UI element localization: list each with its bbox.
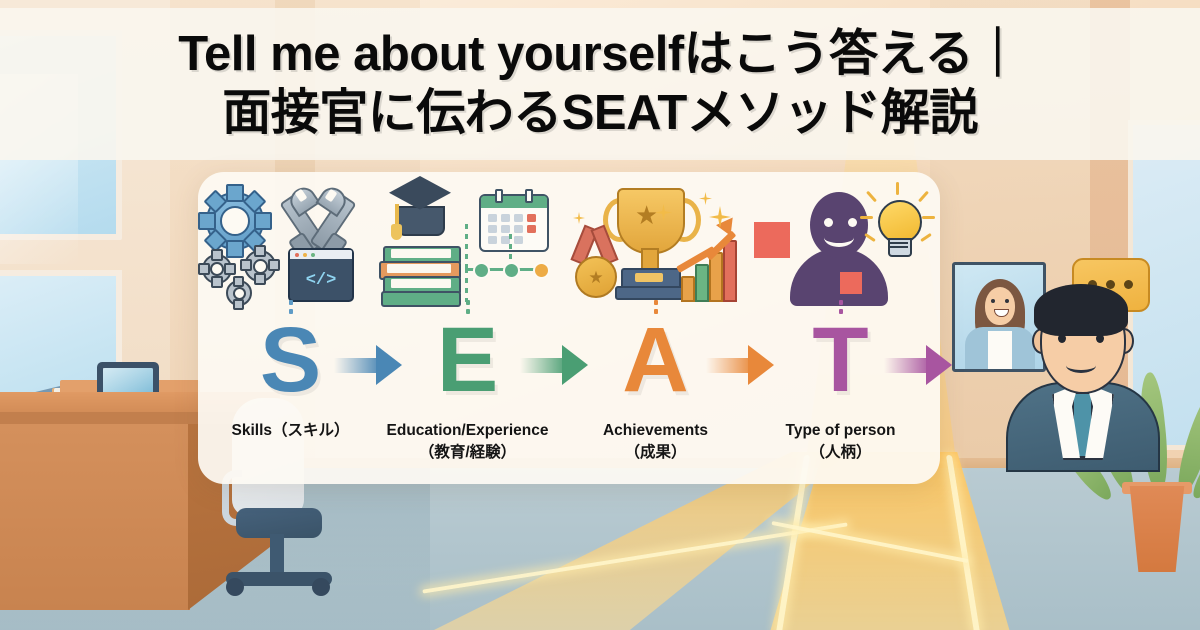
desk-front-panel — [0, 424, 190, 610]
calendar-cell — [514, 214, 523, 222]
code-window-glyph: </> — [290, 261, 352, 300]
candidate-hair — [1034, 284, 1128, 336]
seat-caption-skills: Skills（スキル） — [190, 420, 391, 442]
calendar-cell — [501, 214, 510, 222]
code-window-icon: </> — [288, 248, 354, 302]
sparkle-icon-4 — [573, 212, 585, 224]
calendar-ring-right — [525, 189, 533, 203]
seat-step-achievements: ★ ★ — [563, 172, 748, 484]
calendar-cell — [488, 225, 497, 233]
candidate-eye-left — [1058, 334, 1066, 343]
arrow-t-to-person — [884, 345, 958, 385]
calendar-header — [481, 196, 547, 208]
candidate-eye-right — [1096, 334, 1104, 343]
achievements-icon-group: ★ ★ — [563, 184, 748, 302]
code-window-dot-red — [295, 253, 299, 257]
seat-caption-achievements: Achievements （成果） — [555, 420, 756, 465]
achievements-caption-en: Achievements — [603, 422, 708, 439]
code-window-dot-green — [311, 253, 315, 257]
candidate-smile — [1066, 358, 1096, 373]
education-caption-en: Education/Experience — [387, 422, 549, 439]
education-icon-group — [375, 184, 560, 302]
seat-step-education: E Education/Experience （教育/経験） — [375, 172, 560, 484]
arrow-s-to-e — [334, 345, 408, 385]
calendar-cell-highlight — [527, 225, 536, 233]
arrow-e-to-a — [520, 345, 594, 385]
chair-caster-right — [312, 578, 330, 596]
calendar-cell — [488, 236, 497, 244]
code-window-titlebar — [290, 250, 352, 259]
type-icon-group — [748, 184, 933, 302]
seat-caption-type: Type of person （人柄） — [740, 420, 941, 465]
calendar-ring-left — [495, 189, 503, 203]
achievements-caption-ja: （成果） — [624, 444, 686, 461]
thumbnail-canvas: Tell me about yourselfはこう答える｜ 面接官に伝わるSEA… — [0, 0, 1200, 630]
title-line-1: Tell me about yourselfはこう答える｜ — [178, 26, 1021, 83]
interview-candidate — [990, 272, 1170, 466]
seat-step-skills: </> S Skills（スキル） — [198, 172, 383, 484]
chair-caster-left — [226, 578, 244, 596]
calendar-cell-highlight — [527, 214, 536, 222]
arrow-a-to-t — [706, 345, 780, 385]
education-caption-ja: （教育/経験） — [419, 444, 516, 461]
page-title: Tell me about yourselfはこう答える｜ 面接官に伝わるSEA… — [0, 8, 1200, 160]
code-window-dot-yellow — [303, 253, 307, 257]
type-caption-en: Type of person — [786, 422, 896, 439]
calendar-cell — [514, 236, 523, 244]
title-line-2: 面接官に伝わるSEATメソッド解説 — [222, 85, 978, 142]
heart-icon — [747, 215, 798, 266]
calendar-cell — [488, 214, 497, 222]
seat-caption-education: Education/Experience （教育/経験） — [367, 420, 568, 465]
seat-step-type: T Type of person （人柄） — [748, 172, 933, 484]
calendar-icon — [479, 194, 549, 252]
calendar-cell — [514, 225, 523, 233]
skills-icon-group: </> — [198, 184, 383, 302]
calendar-cell — [501, 225, 510, 233]
sparkle-icon-2 — [699, 192, 712, 205]
type-caption-ja: （人柄） — [809, 444, 871, 461]
